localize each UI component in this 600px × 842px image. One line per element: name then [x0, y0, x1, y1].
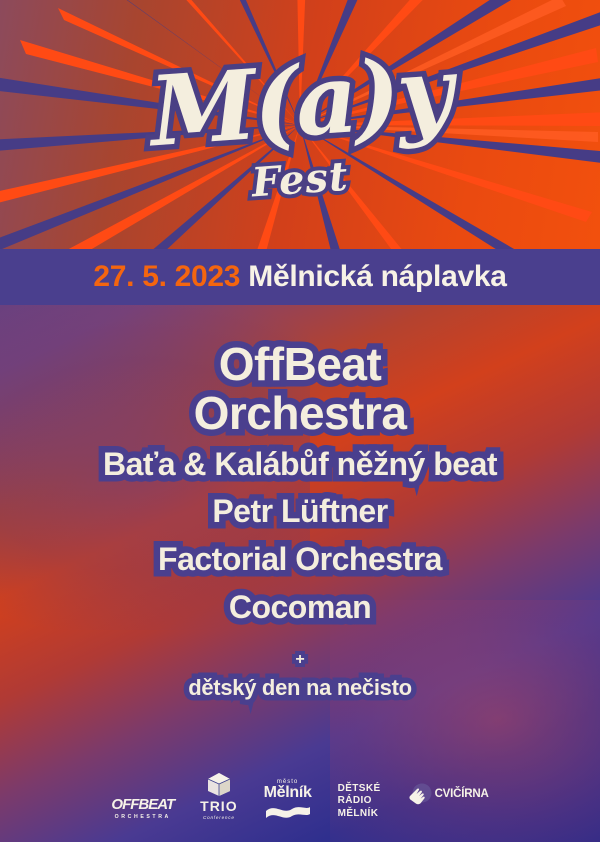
sponsor-logo-melnik: město Mělník — [264, 768, 312, 820]
hand-icon — [407, 782, 433, 806]
sponsor-logo-offbeat: OFFBEAT ORCHESTRA — [111, 768, 174, 820]
radio-logo-line1: DĚTSKÉ — [338, 783, 381, 796]
event-venue: Mělnická náplavka — [248, 260, 506, 293]
act-offbeat-line2: Orchestra — [0, 389, 600, 438]
sponsor-logo-trio: TRIO Conference — [200, 768, 237, 820]
offbeat-logo-name: OFFBEAT — [111, 797, 174, 812]
trio-logo-sub: Conference — [203, 815, 235, 820]
logo-main-text: M(a)y — [147, 48, 453, 157]
act-petr-luftner: Petr Lüftner — [0, 495, 600, 529]
festival-poster: M(a)y Fest 27. 5. 2023 Mělnická náplavka… — [0, 0, 600, 842]
radio-logo-line2: RÁDIO — [338, 795, 381, 808]
river-wave-icon — [265, 804, 311, 820]
radio-logo-line3: MĚLNÍK — [338, 808, 381, 821]
offbeat-logo-sub: ORCHESTRA — [115, 814, 171, 820]
cube-icon — [206, 771, 232, 797]
sponsor-logo-cvicirna: CVIČÍRNA — [407, 768, 489, 820]
date-banner-text: 27. 5. 2023 Mělnická náplavka — [93, 260, 506, 294]
poster-logo: M(a)y Fest — [0, 58, 600, 146]
lineup-list: OffBeat Orchestra Baťa & Kalábůf něžný b… — [0, 340, 600, 701]
sponsor-logos: OFFBEAT ORCHESTRA TRIO Conference město … — [0, 768, 600, 820]
act-bata-kalabuf: Baťa & Kalábůf něžný beat — [0, 448, 600, 482]
event-date: 27. 5. 2023 — [93, 260, 240, 293]
date-banner: 27. 5. 2023 Mělnická náplavka — [0, 249, 600, 305]
act-offbeat-line1: OffBeat — [0, 340, 600, 389]
act-cocoman: Cocoman — [0, 591, 600, 625]
extra-program: dětský den na nečisto — [0, 675, 600, 701]
sponsor-logo-detske-radio: DĚTSKÉ RÁDIO MĚLNÍK — [338, 768, 381, 820]
act-factorial-orchestra: Factorial Orchestra — [0, 543, 600, 577]
cvicirna-logo-name: CVIČÍRNA — [435, 788, 489, 800]
poster-header: M(a)y Fest — [0, 0, 600, 250]
plus-separator: + — [0, 651, 600, 669]
trio-logo-name: TRIO — [200, 799, 237, 813]
melnik-logo-name: Mělník — [264, 785, 312, 802]
